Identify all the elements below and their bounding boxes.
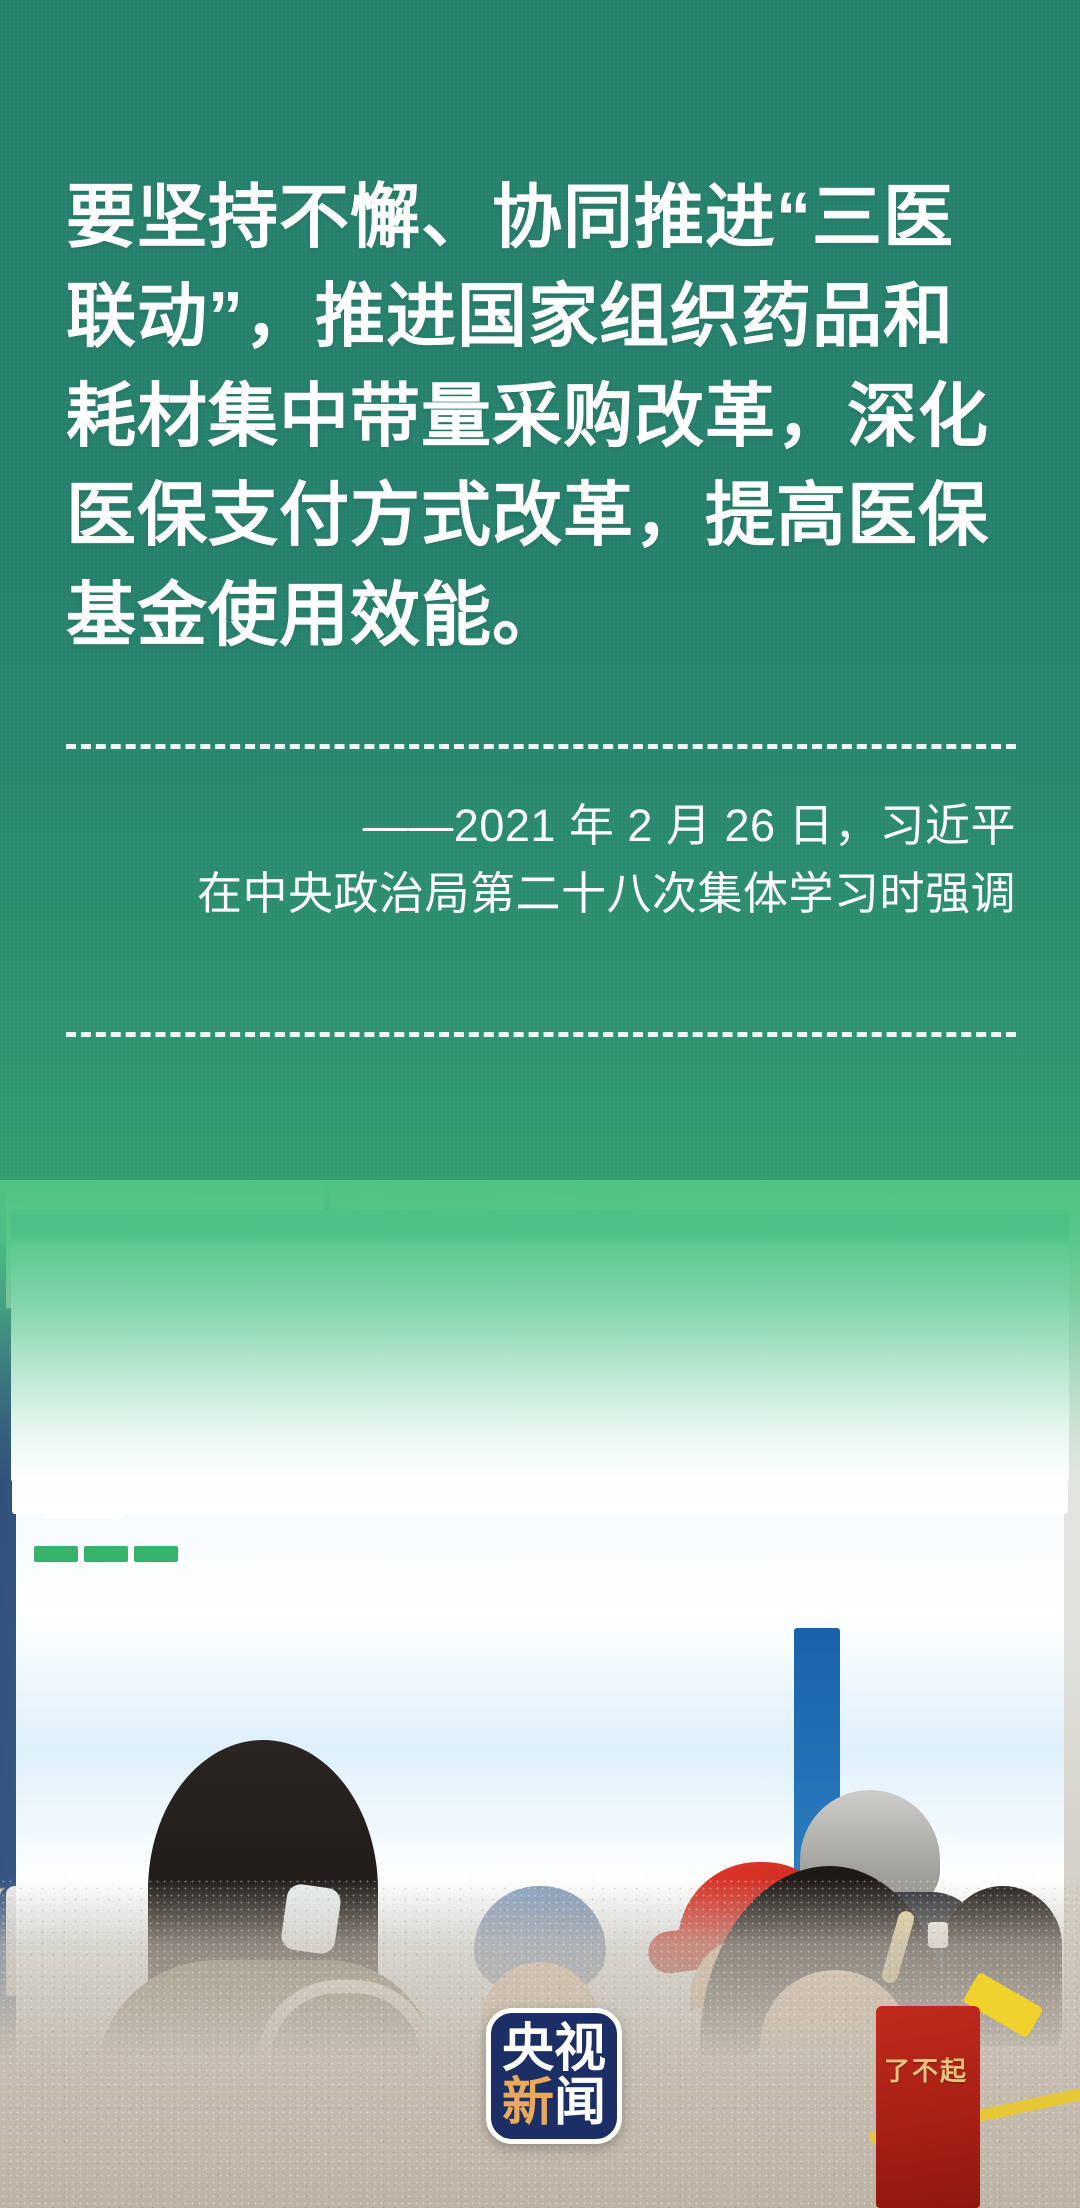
divider-top	[66, 744, 1016, 749]
logo-char-xin: 新	[502, 2077, 554, 2129]
kiosk-3-tag	[34, 1546, 78, 1562]
divider-bottom	[66, 1032, 1016, 1037]
logo-char-shi: 视	[554, 2023, 606, 2075]
cctv-news-logo[interactable]: 央 视 新 闻	[486, 2008, 622, 2144]
quote-text: 要坚持不懈、协同推进“三医联动”，推进国家组织药品和耗材集中带量采购改革，深化医…	[66, 168, 1016, 665]
quote-block: 要坚持不懈、协同推进“三医联动”，推进国家组织药品和耗材集中带量采购改革，深化医…	[66, 168, 1016, 665]
poster-root: 要坚持不懈、协同推进“三医联动”，推进国家组织药品和耗材集中带量采购改革，深化医…	[0, 0, 1080, 2208]
logo-line-1: 央 视	[502, 2023, 606, 2075]
gift-bag: 了不起	[876, 2006, 980, 2208]
logo-line-2: 新 闻	[502, 2077, 606, 2129]
logo-char-wen: 闻	[554, 2077, 606, 2129]
attribution-line-1: ——2021 年 2 月 26 日，习近平	[66, 792, 1016, 860]
attribution: ——2021 年 2 月 26 日，习近平 在中央政治局第二十八次集体学习时强调	[66, 792, 1016, 929]
logo-char-yang: 央	[502, 2023, 554, 2075]
gift-bag-text: 了不起	[884, 2058, 968, 2084]
kiosk-3-tag	[84, 1546, 128, 1562]
kiosk-3-tag	[134, 1546, 178, 1562]
kiosk-3-tag-row	[34, 1546, 178, 1562]
kiosk-6-screen[interactable]	[11, 1210, 1069, 1460]
attribution-line-2: 在中央政治局第二十八次集体学习时强调	[66, 860, 1016, 928]
